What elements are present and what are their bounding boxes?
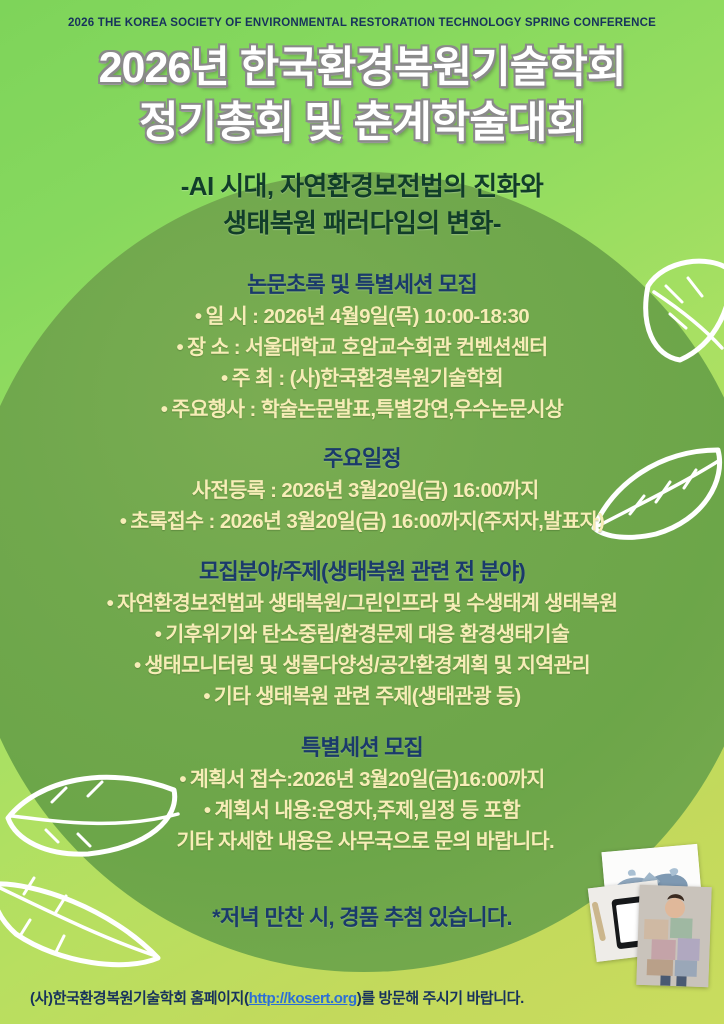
section-special-session: 특별세션 모집 •계획서 접수:2026년 3월20일(금)16:00까지 •계…	[0, 731, 724, 857]
section-abstract-call: 논문초록 및 특별세션 모집 •일 시 : 2026년 4월9일(목) 10:0…	[0, 268, 724, 426]
footer-text: (사)한국환경복원기술학회 홈페이지(http://kosert.org)를 방…	[30, 987, 524, 1008]
item-text: 일 시 : 2026년 4월9일(목) 10:00-18:30	[205, 305, 529, 328]
list-item: •기후위기와 탄소중립/환경문제 대응 환경생태기술	[0, 619, 724, 650]
item-text: 자연환경보전법과 생태복원/그린인프라 및 수생태계 생태복원	[117, 592, 617, 615]
section-heading: 모집분야/주제(생태복원 관련 전 분야)	[0, 555, 724, 588]
item-text: 주요행사 : 학술논문발표,특별강연,우수논문시상	[171, 398, 563, 421]
section-items: •자연환경보전법과 생태복원/그린인프라 및 수생태계 생태복원 •기후위기와 …	[0, 588, 724, 713]
section-schedule: 주요일정 •사전등록 : 2026년 3월20일(금) 16:00까지 •초록접…	[0, 442, 724, 537]
list-item: •주요행사 : 학술논문발표,특별강연,우수논문시상	[0, 394, 724, 425]
list-item: •생태모니터링 및 생물다양성/공간환경계획 및 지역관리	[0, 650, 724, 681]
list-item: •기타 생태복원 관련 주제(생태관광 등)	[0, 681, 724, 712]
section-heading: 논문초록 및 특별세션 모집	[0, 268, 724, 301]
bullet-icon: •	[120, 506, 127, 537]
list-item: •초록접수 : 2026년 3월20일(금) 16:00까지(주저자,발표자)	[0, 506, 724, 537]
kicker-text: 2026 THE KOREA SOCIETY OF ENVIRONMENTAL …	[0, 17, 724, 29]
item-text: 기후위기와 탄소중립/환경문제 대응 환경생태기술	[165, 623, 569, 646]
section-items: •계획서 접수:2026년 3월20일(금)16:00까지 •계획서 내용:운영…	[0, 764, 724, 857]
list-item: •주 최 : (사)한국환경복원기술학회	[0, 363, 724, 394]
list-item: •일 시 : 2026년 4월9일(목) 10:00-18:30	[0, 301, 724, 332]
item-text: 기타 생태복원 관련 주제(생태관광 등)	[214, 685, 521, 708]
list-item: •계획서 내용:운영자,주제,일정 등 포함	[0, 795, 724, 826]
section-items: •일 시 : 2026년 4월9일(목) 10:00-18:30 •장 소 : …	[0, 301, 724, 426]
bullet-icon: •	[134, 650, 141, 681]
bullet-icon: •	[221, 363, 228, 394]
item-text: 기타 자세한 내용은 사무국으로 문의 바랍니다.	[177, 830, 555, 853]
bullet-icon: •	[155, 619, 162, 650]
title-line-1: 2026년 한국환경복원기술학회	[0, 41, 724, 96]
section-topics: 모집분야/주제(생태복원 관련 전 분야) •자연환경보전법과 생태복원/그린인…	[0, 555, 724, 713]
prize-note: *저녁 만찬 시, 경품 추첨 있습니다.	[0, 900, 724, 932]
content-sections: 논문초록 및 특별세션 모집 •일 시 : 2026년 4월9일(목) 10:0…	[0, 268, 724, 859]
item-text: 계획서 접수:2026년 3월20일(금)16:00까지	[190, 768, 545, 791]
bullet-icon: •	[179, 764, 186, 795]
list-item: •자연환경보전법과 생태복원/그린인프라 및 수생태계 생태복원	[0, 588, 724, 619]
bullet-icon: •	[107, 588, 114, 619]
section-heading: 주요일정	[0, 442, 724, 475]
list-item: •장 소 : 서울대학교 호암교수회관 컨벤션센터	[0, 332, 724, 363]
list-item: •계획서 접수:2026년 3월20일(금)16:00까지	[0, 764, 724, 795]
item-text: 사전등록 : 2026년 3월20일(금) 16:00까지	[192, 479, 539, 502]
list-item: •사전등록 : 2026년 3월20일(금) 16:00까지	[0, 475, 724, 506]
item-text: 주 최 : (사)한국환경복원기술학회	[232, 367, 503, 390]
footer-suffix: )를 방문해 주시기 바랍니다.	[357, 990, 524, 1007]
subtitle-line-1: -AI 시대, 자연환경보전법의 진화와	[0, 168, 724, 205]
item-text: 계획서 내용:운영자,주제,일정 등 포함	[214, 799, 520, 822]
bullet-icon: •	[177, 332, 184, 363]
section-items: •사전등록 : 2026년 3월20일(금) 16:00까지 •초록접수 : 2…	[0, 475, 724, 537]
bullet-icon: •	[203, 681, 210, 712]
conference-poster: 2026 THE KOREA SOCIETY OF ENVIRONMENTAL …	[0, 0, 724, 1024]
item-text: 장 소 : 서울대학교 호암교수회관 컨벤션센터	[187, 336, 547, 359]
section-heading: 특별세션 모집	[0, 731, 724, 764]
homepage-link[interactable]: http://kosert.org	[249, 990, 357, 1007]
footer-prefix: (사)한국환경복원기술학회 홈페이지(	[30, 990, 249, 1007]
list-item: •기타 자세한 내용은 사무국으로 문의 바랍니다.	[0, 826, 724, 857]
bullet-icon: •	[161, 394, 168, 425]
item-text: 생태모니터링 및 생물다양성/공간환경계획 및 지역관리	[145, 654, 590, 677]
bullet-icon: •	[195, 301, 202, 332]
bullet-icon: •	[204, 795, 211, 826]
title-line-2: 정기총회 및 춘계학술대회	[0, 96, 724, 151]
item-text: 초록접수 : 2026년 3월20일(금) 16:00까지(주저자,발표자)	[130, 510, 604, 533]
subtitle: -AI 시대, 자연환경보전법의 진화와 생태복원 패러다임의 변화-	[0, 168, 724, 242]
page-title: 2026년 한국환경복원기술학회 정기총회 및 춘계학술대회	[0, 41, 724, 151]
subtitle-line-2: 생태복원 패러다임의 변화-	[0, 205, 724, 242]
